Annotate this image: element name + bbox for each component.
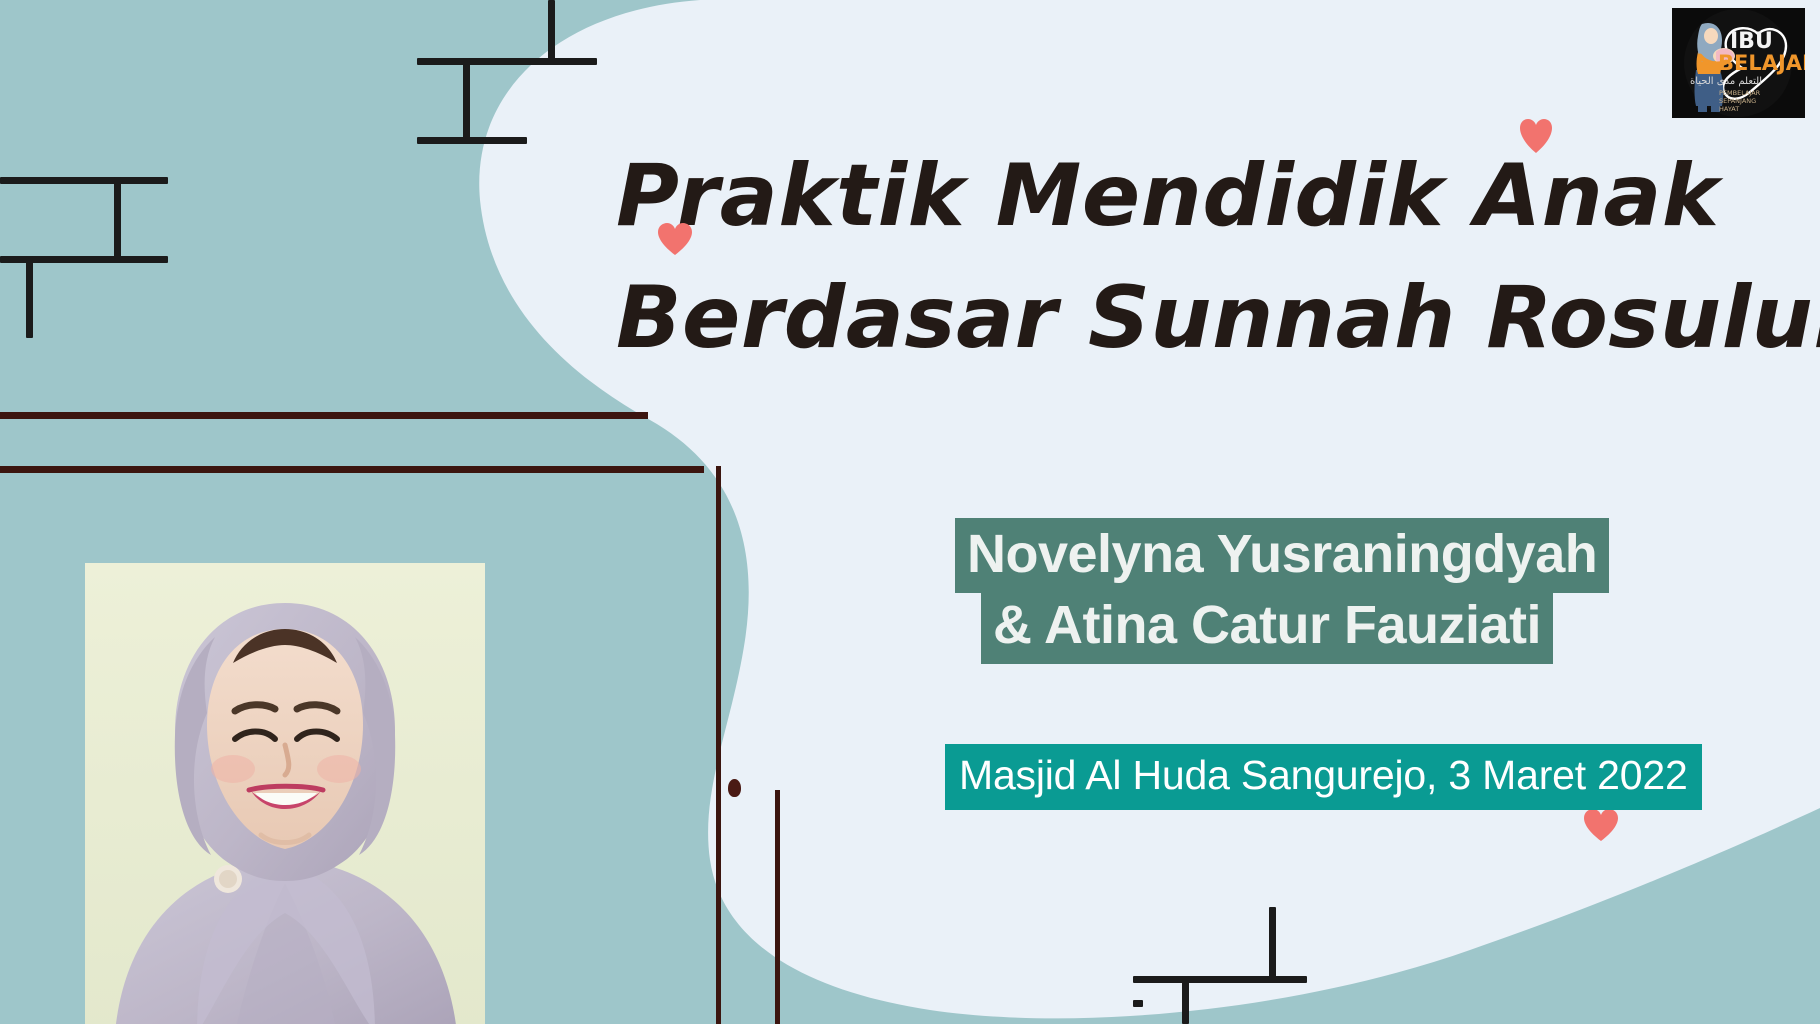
heart-icon-title-left (657, 222, 693, 256)
speaker-name-2: & Atina Catur Fauziati (981, 589, 1553, 664)
speaker-portrait (85, 563, 485, 1024)
brown-rule-vertical-2 (775, 790, 780, 1024)
presentation-slide: IBU BELAJAR التعلم مدى الحياة PEMBELAJAR… (0, 0, 1820, 1024)
decor-line-horizontal-6 (1133, 1000, 1143, 1007)
heart-icon-venue (1583, 808, 1619, 842)
decor-line-horizontal-2 (417, 137, 527, 144)
venue-date-banner: Masjid Al Huda Sangurejo, 3 Maret 2022 (945, 744, 1702, 810)
ibu-belajar-logo: IBU BELAJAR التعلم مدى الحياة PEMBELAJAR… (1672, 8, 1805, 118)
slide-title: Praktik Mendidik Anak Berdasar Sunnah Ro… (616, 135, 1786, 379)
decor-line-horizontal-1 (417, 58, 597, 65)
logo-arabic-text: التعلم مدى الحياة (1690, 76, 1762, 87)
decor-line-vertical-3 (114, 177, 121, 260)
decor-line-vertical-1 (548, 0, 555, 60)
speaker-name-1: Novelyna Yusraningdyah (955, 518, 1609, 593)
brown-rule-top (0, 412, 648, 419)
speaker-names-block: Novelyna Yusraningdyah & Atina Catur Fau… (955, 518, 1609, 664)
decor-line-vertical-5 (1269, 907, 1276, 983)
title-line-1: Praktik Mendidik Anak (616, 135, 1786, 257)
decor-line-horizontal-5 (1133, 976, 1307, 983)
decor-line-vertical-6 (1182, 976, 1189, 1024)
heart-icon-title-right (1519, 118, 1553, 154)
logo-tagline-line-3: HAYAT (1719, 105, 1739, 113)
logo-tagline-line-1: PEMBELAJAR (1719, 89, 1761, 97)
decor-line-horizontal-3 (0, 177, 168, 184)
brown-rule-vertical-1 (716, 466, 721, 1024)
logo-word-belajar: BELAJAR (1718, 51, 1805, 75)
logo-tagline-line-2: SEPANJANG (1719, 97, 1756, 105)
decor-line-vertical-4 (26, 256, 33, 338)
decor-line-vertical-2 (463, 58, 470, 140)
title-line-2: Berdasar Sunnah Rosulullah (616, 257, 1786, 379)
brown-rule-bottom (0, 466, 704, 473)
blob-accent-dot (728, 779, 741, 797)
